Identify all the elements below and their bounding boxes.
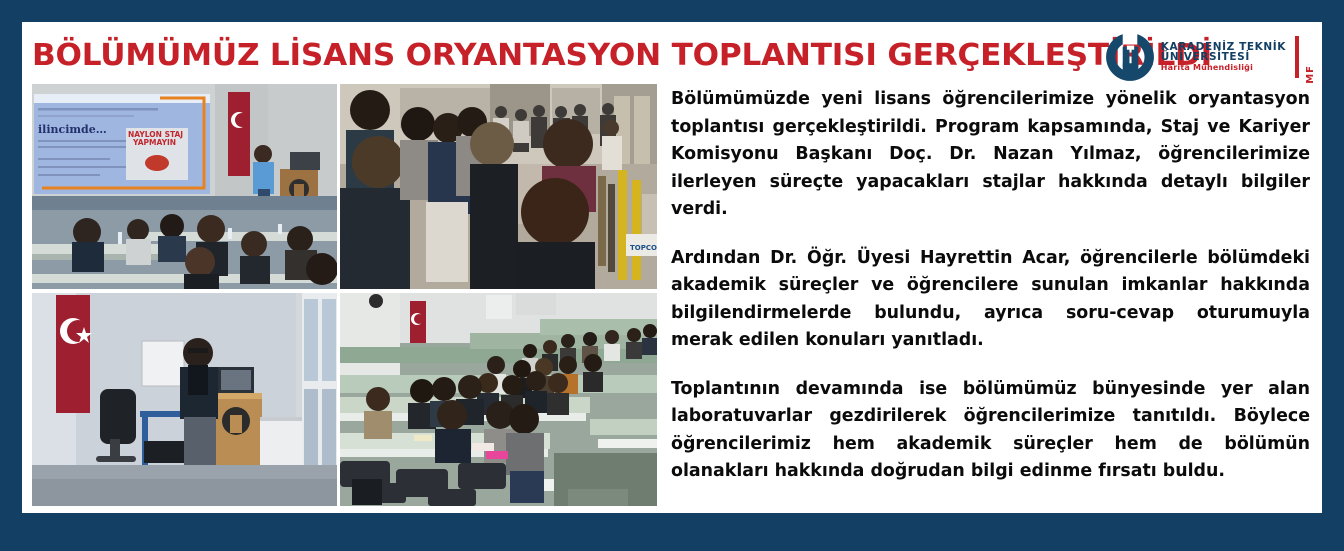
article-paragraph-2: Ardından Dr. Öğr. Üyesi Hayrettin Acar, …	[671, 245, 1310, 355]
poster-header: BÖLÜMÜMÜZ LİSANS ORYANTASYON TOPLANTISI …	[22, 22, 1322, 84]
article-paragraph-1: Bölümümüzde yeni lisans öğrencilerimize …	[671, 86, 1310, 224]
poster-content: ilincimde… NAYLON STAJ YAPMAYIN	[22, 84, 1322, 506]
svg-text:TOPCON: TOPCON	[630, 244, 657, 252]
photo-gallery: ilincimde… NAYLON STAJ YAPMAYIN	[32, 84, 657, 506]
photo-podium-speaker	[32, 293, 337, 506]
photo-amphitheatre-students	[340, 293, 657, 506]
page-title: BÖLÜMÜMÜZ LİSANS ORYANTASYON TOPLANTISI …	[32, 41, 1212, 72]
article-paragraph-3: Toplantının devamında ise bölümümüz büny…	[671, 376, 1310, 486]
poster-frame: BÖLÜMÜMÜZ LİSANS ORYANTASYON TOPLANTISI …	[0, 0, 1344, 551]
photo-laboratory-tour: TOPCON	[340, 84, 657, 289]
photo-lecture-hall-presentation: ilincimde… NAYLON STAJ YAPMAYIN	[32, 84, 337, 289]
ktu-logo-text: KARADENİZ TEKNİK ÜNİVERSİTESİ Harita Müh…	[1161, 42, 1286, 73]
ktu-logo: KARADENİZ TEKNİK ÜNİVERSİTESİ Harita Müh…	[1104, 28, 1316, 86]
faculty-mark: MF	[1305, 65, 1316, 84]
logo-red-bar	[1295, 36, 1299, 78]
poster-sheet: BÖLÜMÜMÜZ LİSANS ORYANTASYON TOPLANTISI …	[22, 22, 1322, 513]
svg-text:ilincimde…: ilincimde…	[38, 123, 107, 136]
logo-line-3: Harita Mühendisliği	[1161, 64, 1286, 72]
logo-line-2: ÜNİVERSİTESİ	[1161, 52, 1286, 63]
article-body: Bölümümüzde yeni lisans öğrencilerimize …	[671, 84, 1316, 506]
ktu-emblem-icon	[1104, 31, 1156, 83]
svg-text:YAPMAYIN: YAPMAYIN	[132, 138, 176, 147]
